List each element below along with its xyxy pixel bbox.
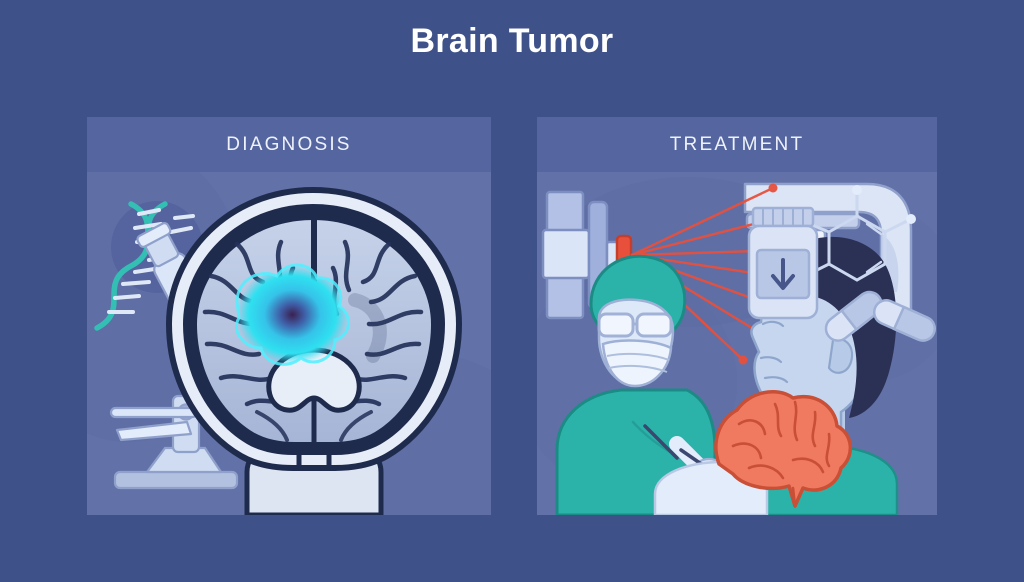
poster-canvas: Brain Tumor DIAGNOSIS — [0, 0, 1024, 582]
page-title: Brain Tumor — [0, 22, 1024, 61]
panel-diagnosis: DIAGNOSIS — [87, 117, 491, 515]
panel-diagnosis-body — [87, 172, 491, 515]
panel-diagnosis-header: DIAGNOSIS — [87, 117, 491, 172]
panel-treatment-header: TREATMENT — [537, 117, 937, 172]
panel-treatment-header-label: TREATMENT — [537, 117, 937, 172]
panel-treatment: TREATMENT — [537, 117, 937, 515]
panel-treatment-body — [537, 172, 937, 515]
pill-bottle-icon — [749, 208, 817, 318]
panel-diagnosis-header-label: DIAGNOSIS — [87, 117, 491, 172]
